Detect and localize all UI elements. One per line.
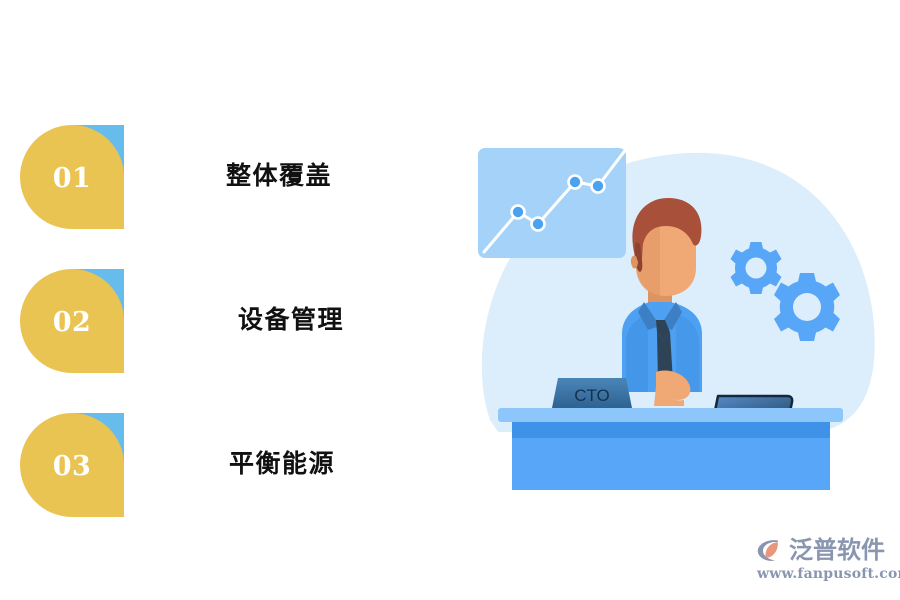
badge-02[interactable]: 02 — [20, 269, 124, 373]
list-item[interactable]: 03 平衡能源 — [0, 413, 460, 523]
badge-number: 01 — [53, 165, 92, 192]
badge-body: 03 — [20, 413, 124, 517]
cto-at-desk-illustration: CTO — [470, 120, 890, 490]
badge-body: 02 — [20, 269, 124, 373]
badge-number: 02 — [53, 309, 92, 336]
chart-panel — [478, 136, 636, 258]
badge-body: 01 — [20, 125, 124, 229]
list-item-label: 平衡能源 — [229, 444, 335, 480]
list-item-label: 整体覆盖 — [226, 156, 332, 192]
badge-03[interactable]: 03 — [20, 413, 124, 517]
list-item[interactable]: 02 设备管理 — [0, 269, 460, 379]
desk — [498, 408, 843, 490]
nameplate-text: CTO — [574, 386, 610, 405]
logo-row: 泛普软件 — [756, 536, 885, 564]
fanpusoft-logo: 泛普软件 www.fanpusoft.com — [756, 536, 884, 588]
slide-canvas: 01 整体覆盖 02 设备管理 03 平衡能源 — [0, 0, 900, 600]
list-item[interactable]: 01 整体覆盖 — [0, 125, 460, 235]
desk-nameplate: CTO — [552, 378, 632, 408]
logo-url-text: www.fanpusoft.com — [757, 566, 900, 582]
logo-brand-text: 泛普软件 — [789, 536, 885, 564]
badge-01[interactable]: 01 — [20, 125, 124, 229]
list-item-label: 设备管理 — [238, 300, 344, 336]
fanpusoft-mark-icon — [756, 536, 784, 564]
badge-number: 03 — [53, 453, 92, 480]
